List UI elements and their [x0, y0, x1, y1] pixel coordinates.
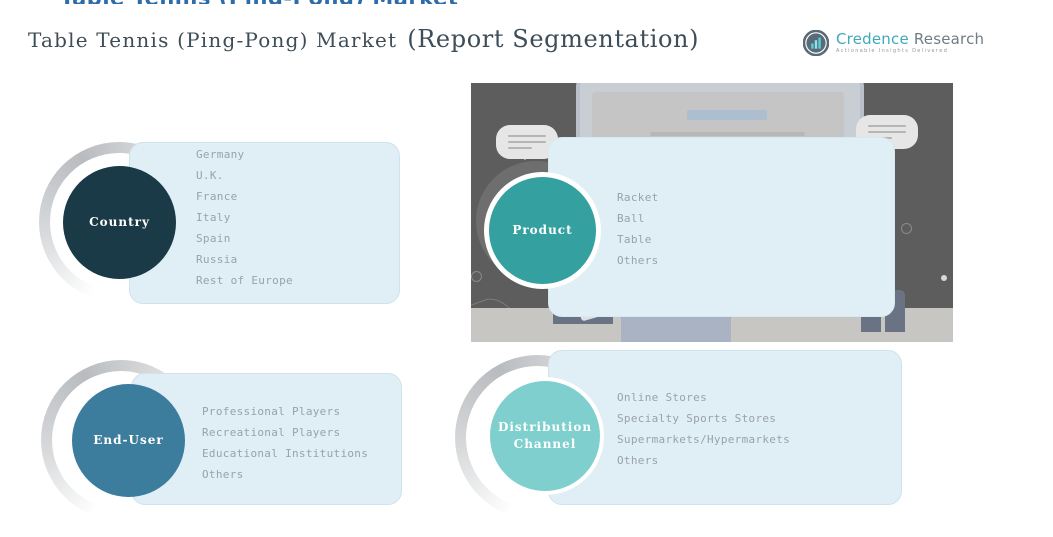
- bar-chart-circle-icon: [803, 30, 829, 56]
- list-item: Italy: [196, 211, 293, 224]
- list-item: Online Stores: [617, 391, 790, 404]
- list-item: Educational Institutions: [202, 447, 368, 460]
- product-item-list: Racket Ball Table Others: [617, 191, 659, 267]
- brand-logo: Credence Research Actionable Insights De…: [803, 30, 984, 56]
- clipped-top-heading-text: Table Tennis (Ping-Pong) Market: [0, 0, 1053, 4]
- brand-tagline: Actionable Insights Delivered: [836, 49, 984, 54]
- country-circle[interactable]: Country: [63, 166, 176, 279]
- distribution-channel-circle[interactable]: Distribution Channel: [486, 377, 604, 495]
- list-item: Recreational Players: [202, 426, 368, 439]
- page-title-sub: (Report Segmentation): [407, 25, 699, 53]
- list-item: Others: [617, 454, 790, 467]
- list-item: Specialty Sports Stores: [617, 412, 790, 425]
- list-item: Rest of Europe: [196, 274, 293, 287]
- decorative-circle: [901, 223, 912, 234]
- brand-name-secondary: Research: [914, 30, 984, 48]
- distribution-channel-item-list: Online Stores Specialty Sports Stores Su…: [617, 391, 790, 467]
- country-item-list: Germany U.K. France Italy Spain Russia R…: [196, 148, 293, 287]
- end-user-item-list: Professional Players Recreational Player…: [202, 405, 368, 481]
- list-item: France: [196, 190, 293, 203]
- list-item: Professional Players: [202, 405, 368, 418]
- end-user-circle[interactable]: End-User: [72, 384, 185, 497]
- list-item: Others: [617, 254, 659, 267]
- product-circle[interactable]: Product: [484, 172, 601, 289]
- list-item: Spain: [196, 232, 293, 245]
- brand-name-primary: Credence: [836, 30, 909, 48]
- brand-name: Credence Research: [836, 32, 984, 47]
- decorative-circle: [471, 271, 482, 282]
- end-user-label: End-User: [93, 432, 163, 449]
- clipped-top-heading: Table Tennis (Ping-Pong) Market: [0, 0, 1053, 4]
- list-item: Russia: [196, 253, 293, 266]
- list-item: Others: [202, 468, 368, 481]
- list-item: U.K.: [196, 169, 293, 182]
- page-title-main: Table Tennis (Ping-Pong) Market: [28, 28, 397, 52]
- list-item: Supermarkets/Hypermarkets: [617, 433, 790, 446]
- list-item: Germany: [196, 148, 293, 161]
- list-item: Racket: [617, 191, 659, 204]
- country-label: Country: [89, 214, 150, 231]
- decorative-dot: [941, 275, 947, 281]
- screen-bar: [650, 132, 805, 136]
- product-label: Product: [512, 222, 572, 239]
- distribution-channel-label-line1: Distribution: [498, 419, 592, 436]
- list-item: Table: [617, 233, 659, 246]
- distribution-channel-label-line2: Channel: [514, 436, 577, 453]
- brand-logo-text: Credence Research Actionable Insights De…: [836, 32, 984, 54]
- screen-bar: [687, 110, 767, 120]
- list-item: Ball: [617, 212, 659, 225]
- segmentation-infographic: Table Tennis (Ping-Pong) Market Table Te…: [0, 0, 1053, 537]
- page-title: Table Tennis (Ping-Pong) Market(Report S…: [28, 25, 699, 53]
